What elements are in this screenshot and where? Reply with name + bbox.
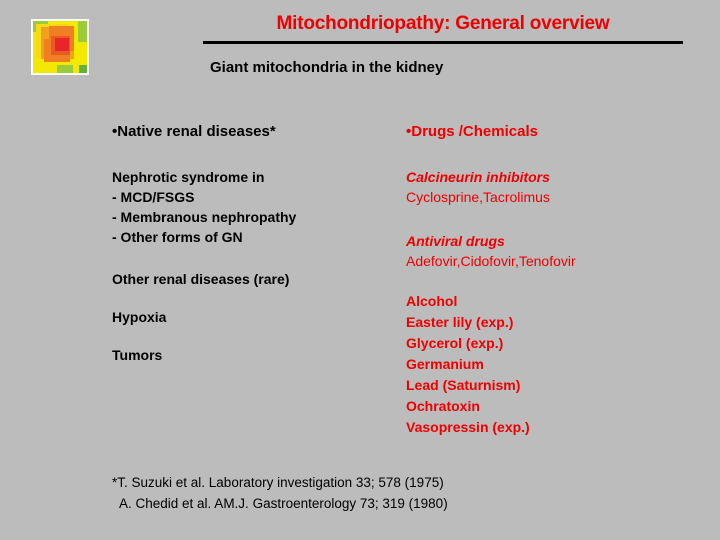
- list-item: Hypoxia: [112, 307, 402, 327]
- drug-class-detail: Adefovir,Cidofovir,Tenofovir: [406, 251, 706, 271]
- left-column-heading: •Native renal diseases*: [112, 122, 402, 141]
- right-column: •Drugs /Chemicals Calcineurin inhibitors…: [406, 122, 706, 438]
- right-column-heading: •Drugs /Chemicals: [406, 122, 706, 141]
- spacer: [406, 141, 706, 167]
- logo-block-green-topright: [78, 21, 87, 42]
- drug-class-title: Antiviral drugs: [406, 231, 706, 251]
- list-item: Lead (Saturnism): [406, 375, 706, 396]
- list-item: Ochratoxin: [406, 396, 706, 417]
- spacer: [112, 141, 402, 167]
- spacer: [406, 271, 706, 291]
- list-item: Tumors: [112, 345, 402, 365]
- logo-graphic: [33, 21, 87, 73]
- logo-block-red-center: [55, 38, 69, 52]
- footnote-line-2: A. Chedid et al. AM.J. Gastroenterology …: [112, 493, 448, 514]
- list-item: Vasopressin (exp.): [406, 417, 706, 438]
- list-item: - Other forms of GN: [112, 227, 402, 247]
- drug-class-title: Calcineurin inhibitors: [406, 167, 706, 187]
- page-subtitle: Giant mitochondria in the kidney: [210, 59, 443, 76]
- list-item: Glycerol (exp.): [406, 333, 706, 354]
- spacer: [112, 289, 402, 307]
- drug-class-detail: Cyclosprine,Tacrolimus: [406, 187, 706, 207]
- spacer: [112, 247, 402, 269]
- list-item: Easter lily (exp.): [406, 312, 706, 333]
- logo-block-green-bottomright: [79, 65, 87, 73]
- logo-block-yellow-bottomleft: [33, 64, 45, 73]
- footnote: *T. Suzuki et al. Laboratory investigati…: [112, 472, 448, 514]
- page-title: Mitochondriopathy: General overview: [203, 13, 683, 35]
- list-item: Germanium: [406, 354, 706, 375]
- spacer: [406, 207, 706, 231]
- mitochondria-thumbnail-logo: [31, 19, 89, 75]
- footnote-line-1: *T. Suzuki et al. Laboratory investigati…: [112, 475, 444, 490]
- slide-canvas: Mitochondriopathy: General overview Gian…: [0, 0, 720, 540]
- title-divider: [203, 41, 683, 44]
- list-item: Alcohol: [406, 291, 706, 312]
- spacer: [112, 327, 402, 345]
- nephrotic-syndrome-title: Nephrotic syndrome in: [112, 167, 402, 187]
- left-column: •Native renal diseases* Nephrotic syndro…: [112, 122, 402, 365]
- logo-block-green-bottom: [57, 65, 73, 73]
- list-item: - Membranous nephropathy: [112, 207, 402, 227]
- list-item: - MCD/FSGS: [112, 187, 402, 207]
- list-item: Other renal diseases (rare): [112, 269, 402, 289]
